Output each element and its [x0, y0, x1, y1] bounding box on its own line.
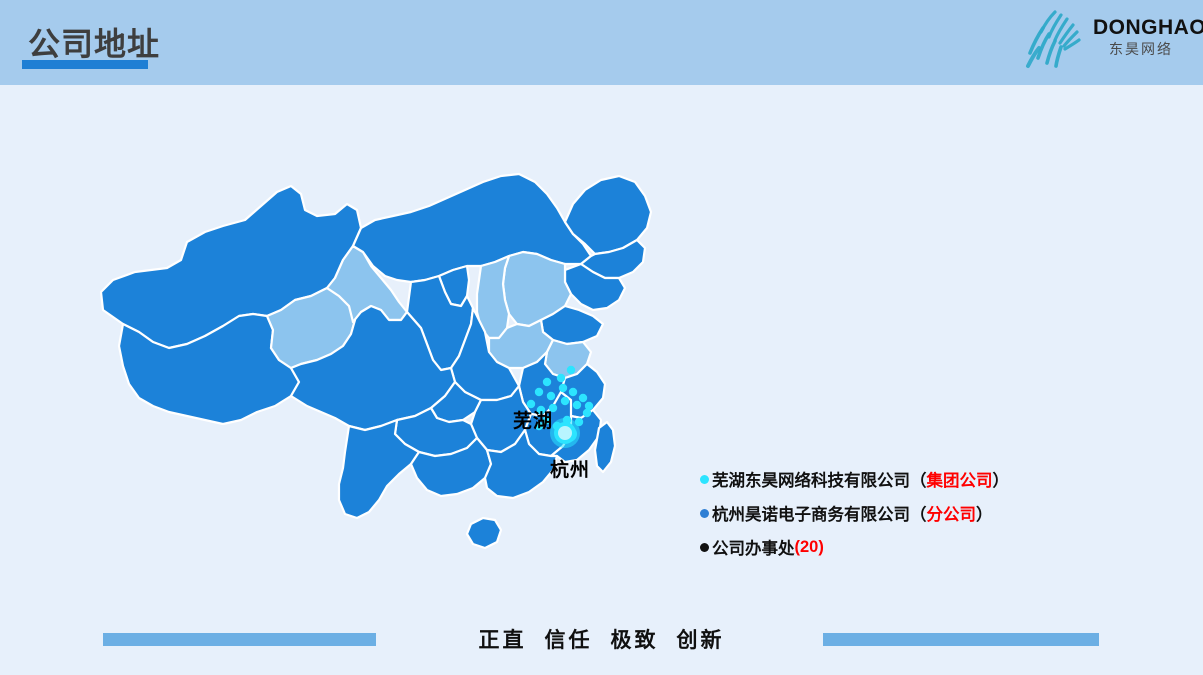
legend-label-offices: 公司办事处	[712, 535, 795, 559]
company-logo: DONGHAO 东昊网络	[1019, 8, 1189, 72]
map-label-hangzhou: 杭州	[550, 455, 590, 482]
logo-name-en: DONGHAO	[1093, 16, 1189, 40]
legend-bullet-black-icon	[700, 543, 709, 552]
wing-feather-icon	[1019, 8, 1091, 70]
legend-label-group-company-after: ）	[993, 467, 1010, 491]
slide-company-address: 公司地址	[0, 0, 1203, 675]
slogan-word-2: 信任	[545, 629, 593, 652]
legend-item-branch-company: 杭州昊诺电子商务有限公司（分公司）	[700, 496, 1140, 530]
page-title: 公司地址	[28, 19, 160, 65]
province-hainan	[467, 518, 501, 548]
province-taiwan	[595, 422, 615, 472]
slogan-word-1: 正直	[479, 629, 527, 652]
legend-tag-offices: (20)	[795, 538, 824, 557]
slogan-word-4: 创新	[677, 629, 725, 652]
footer-slogan: 正直信任极致创新	[0, 624, 1203, 654]
slogan-word-3: 极致	[611, 629, 659, 652]
legend-bullet-cyan-icon	[700, 475, 709, 484]
title-underline	[22, 60, 148, 69]
legend-tag-group-company: 集团公司	[927, 467, 993, 491]
logo-name-cn: 东昊网络	[1093, 40, 1189, 58]
headquarters-marker-wuhu	[550, 418, 580, 448]
legend-item-offices: 公司办事处(20)	[700, 530, 1140, 564]
logo-text: DONGHAO 东昊网络	[1093, 16, 1189, 58]
header-band: 公司地址	[0, 0, 1203, 85]
legend-label-branch-company: 杭州昊诺电子商务有限公司（	[712, 501, 927, 525]
china-map: 芜湖 杭州	[95, 120, 685, 610]
legend: 芜湖东昊网络科技有限公司（集团公司） 杭州昊诺电子商务有限公司（分公司） 公司办…	[700, 462, 1140, 564]
legend-bullet-blue-icon	[700, 509, 709, 518]
legend-label-branch-company-after: ）	[976, 501, 993, 525]
legend-tag-branch-company: 分公司	[927, 501, 977, 525]
map-label-wuhu: 芜湖	[513, 406, 553, 433]
legend-item-group-company: 芜湖东昊网络科技有限公司（集团公司）	[700, 462, 1140, 496]
legend-label-group-company: 芜湖东昊网络科技有限公司（	[712, 467, 927, 491]
